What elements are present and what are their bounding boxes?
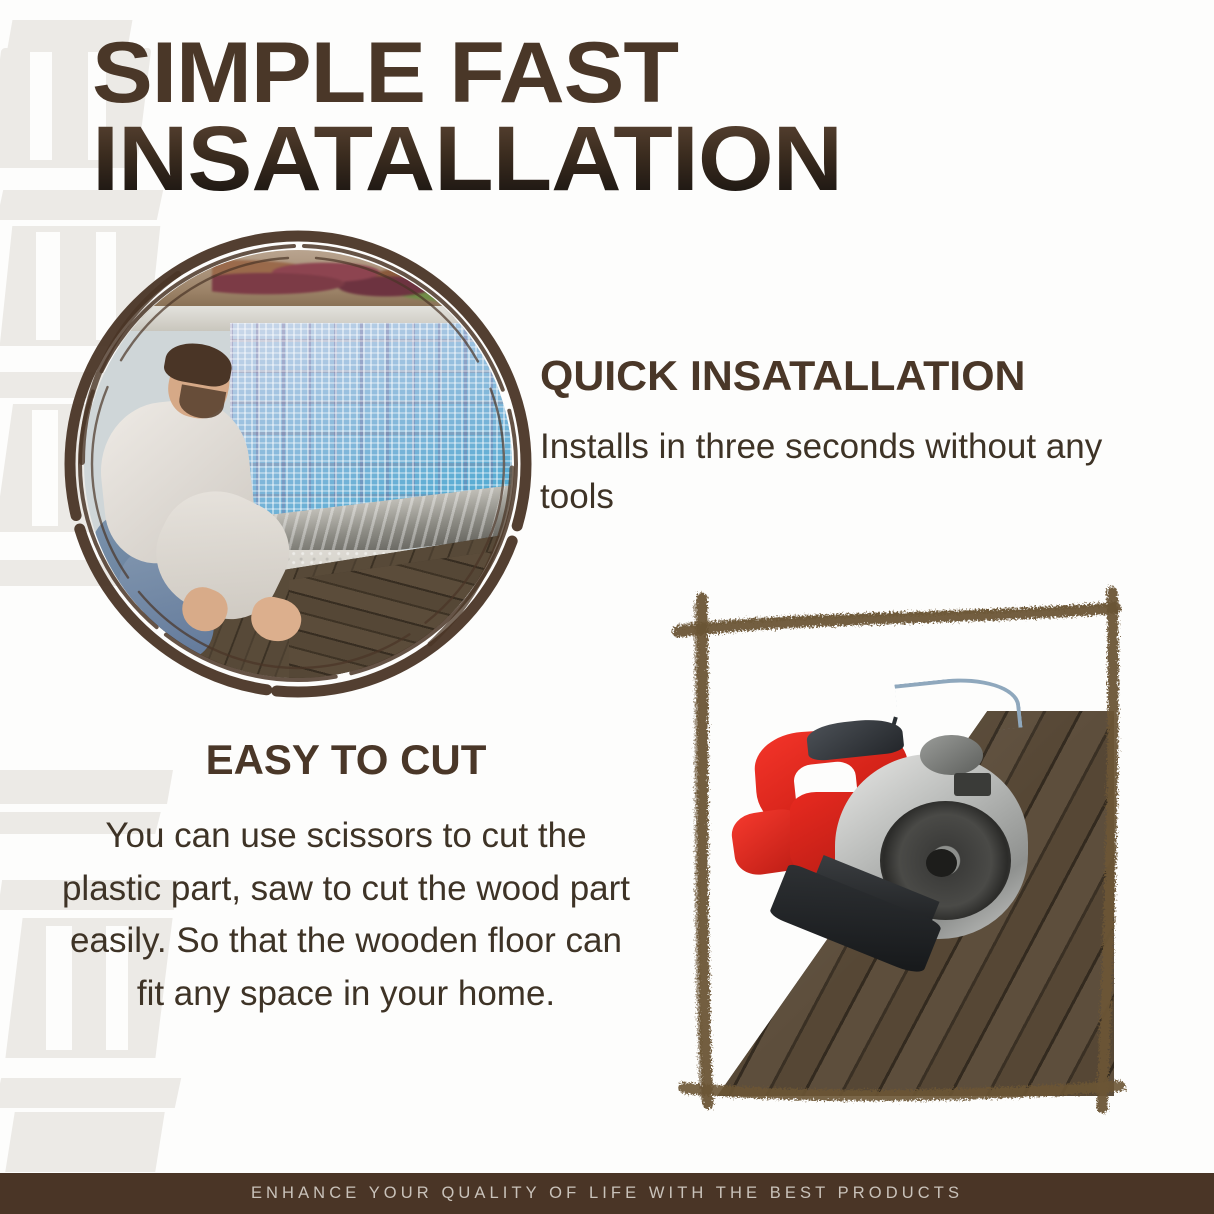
- easy-to-cut-body: You can use scissors to cut the plastic …: [60, 810, 632, 1020]
- photo-saw-on-deck: [684, 602, 1114, 1096]
- easy-to-cut-photo: [664, 580, 1134, 1120]
- easy-to-cut-heading: EASY TO CUT: [60, 736, 632, 784]
- photo-person: [93, 344, 341, 678]
- footer-tagline: ENHANCE YOUR QUALITY OF LIFE WITH THE BE…: [251, 1184, 963, 1203]
- photo-foliage: [212, 250, 512, 306]
- saw-arbor-bolt: [926, 849, 957, 877]
- saw-label-plate: [954, 773, 991, 797]
- saw-power-cord: [895, 672, 1023, 741]
- quick-installation-photo: [58, 224, 538, 704]
- page-title: SIMPLE FAST INSATALLATION: [92, 32, 1092, 203]
- infographic-canvas: SIMPLE FAST INSATALLATION: [0, 0, 1214, 1214]
- quick-installation-body: Installs in three seconds without any to…: [540, 422, 1160, 521]
- quick-installation-text-block: QUICK INSATALLATION Installs in three se…: [540, 352, 1160, 521]
- photo-man-installing-tiles: [84, 250, 512, 678]
- saw-motor-vent-port: [920, 735, 982, 775]
- title-line-2: INSATALLATION: [92, 115, 1152, 203]
- quick-installation-heading: QUICK INSATALLATION: [540, 352, 1172, 400]
- easy-to-cut-text-block: EASY TO CUT You can use scissors to cut …: [60, 736, 632, 1020]
- circular-saw: [744, 721, 1028, 958]
- title-line-1: SIMPLE FAST: [92, 32, 1152, 115]
- footer-bar: ENHANCE YOUR QUALITY OF LIFE WITH THE BE…: [0, 1173, 1214, 1214]
